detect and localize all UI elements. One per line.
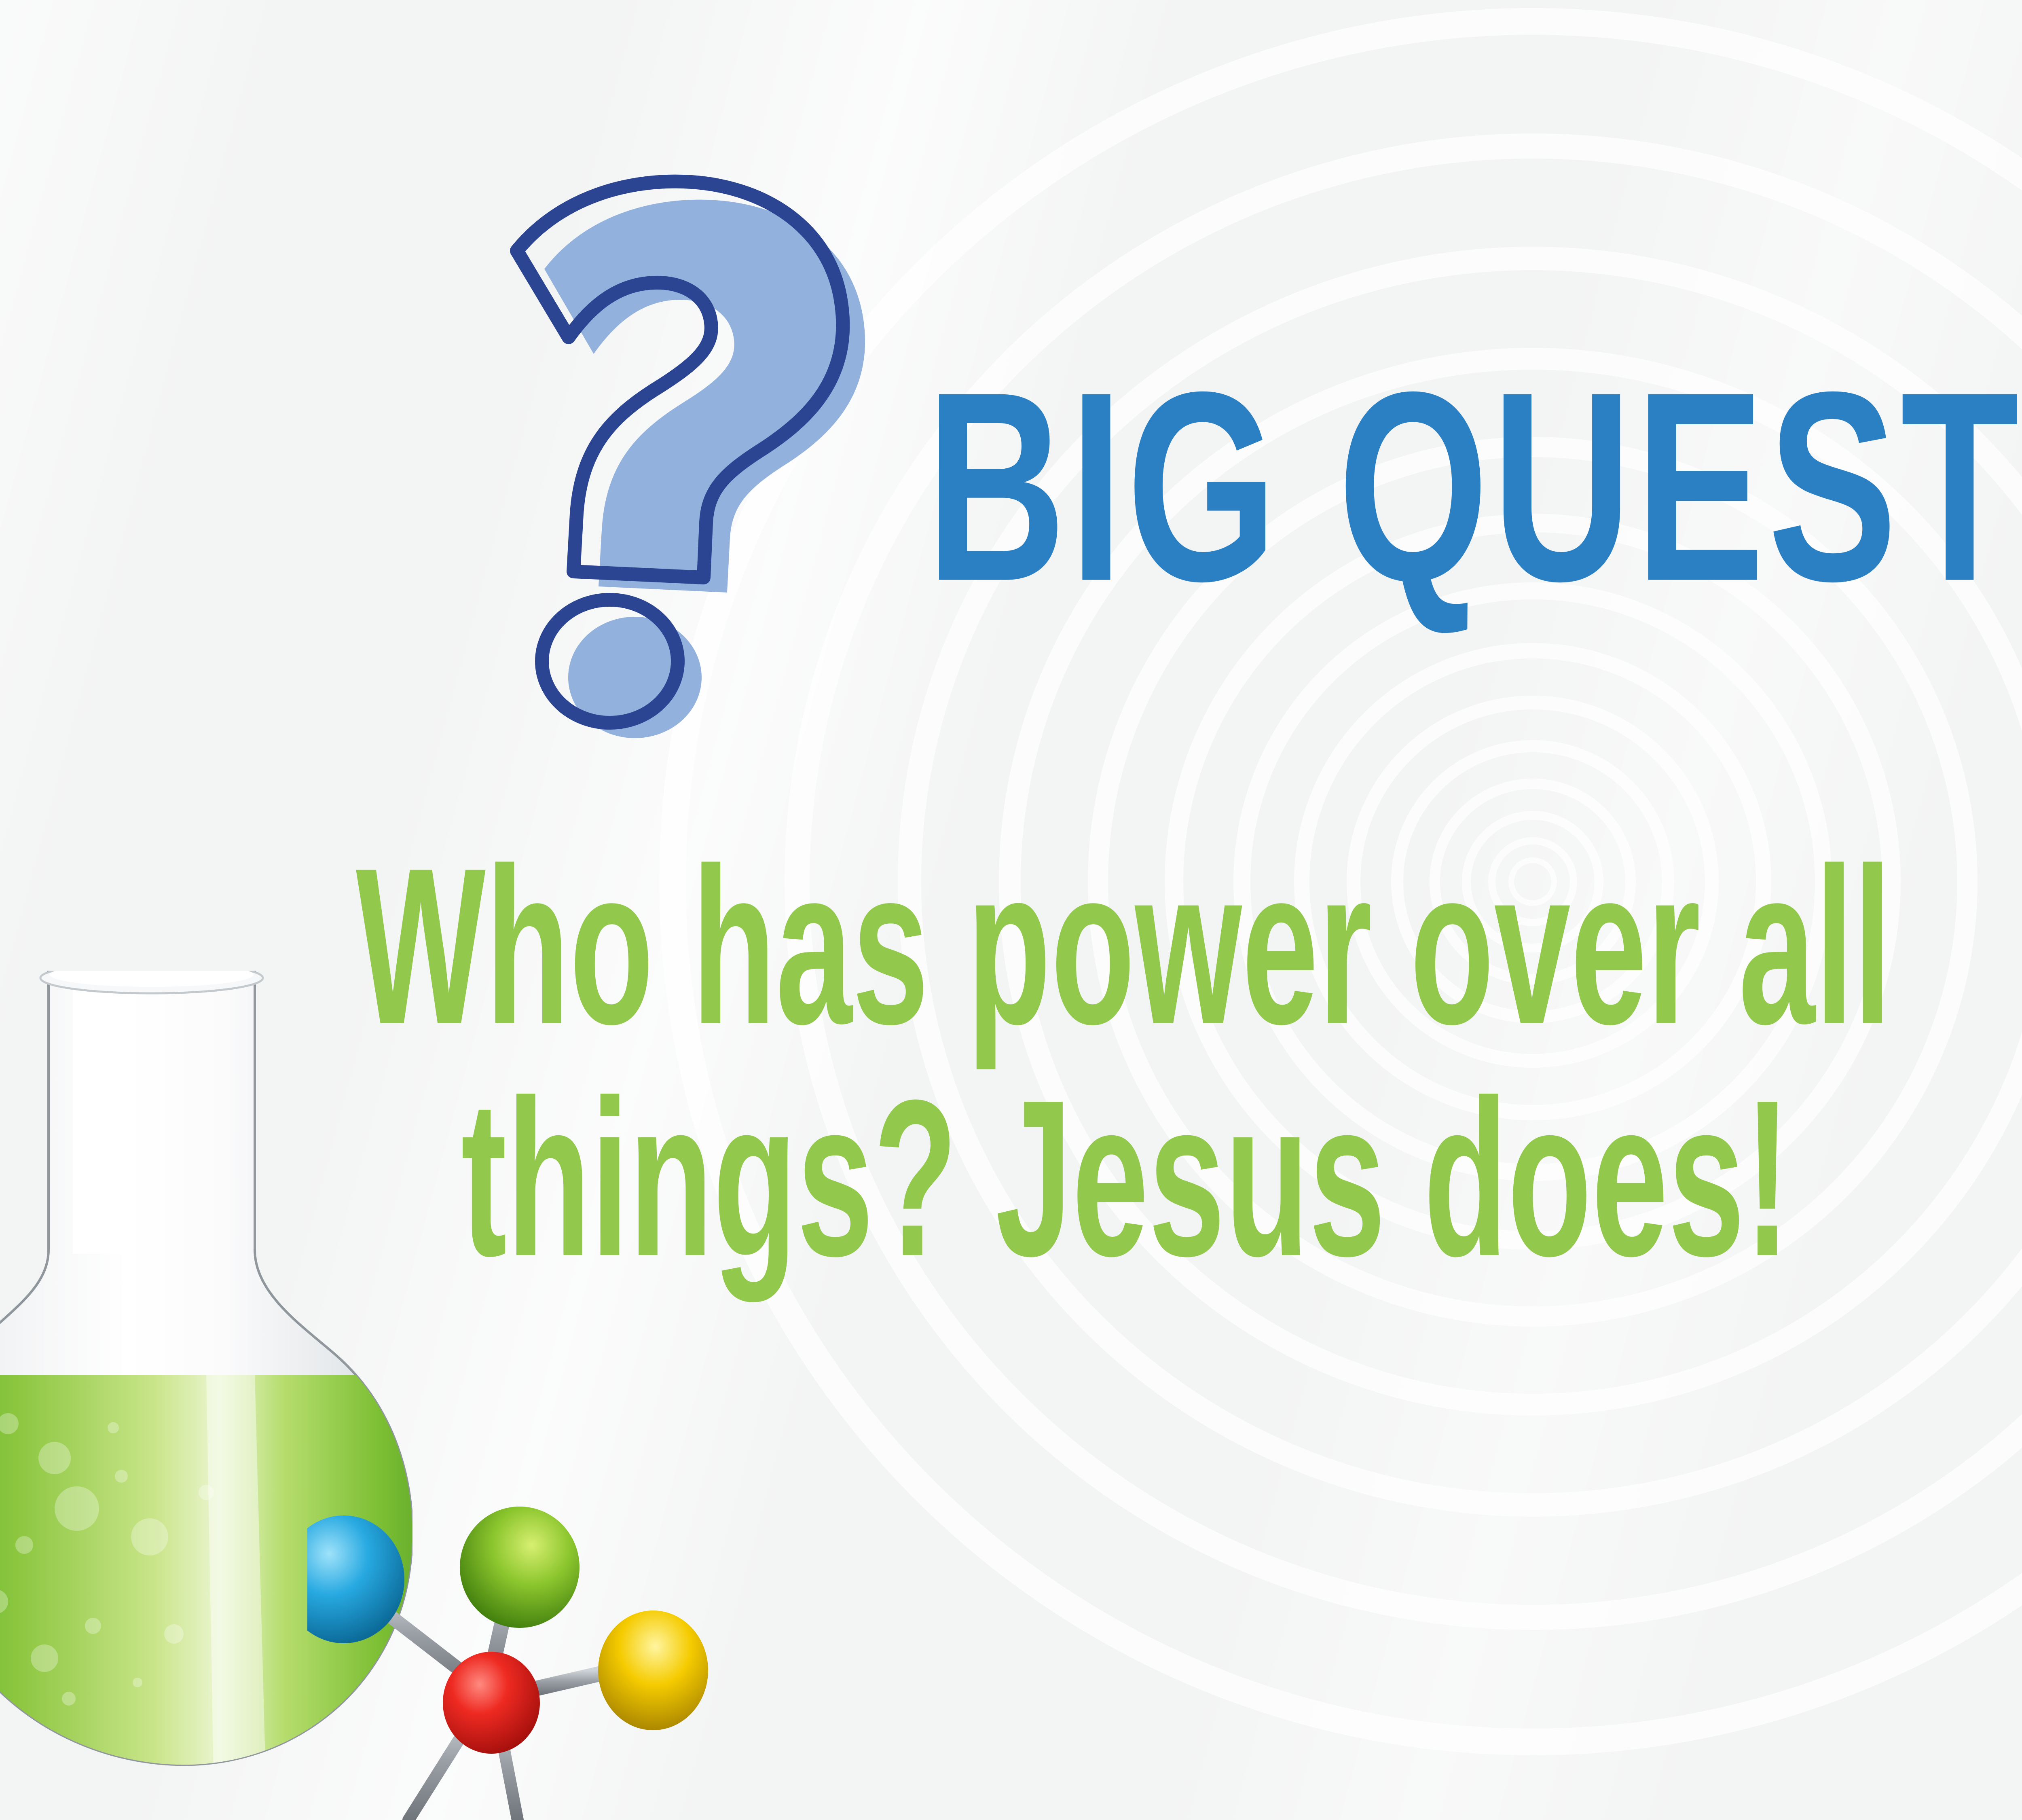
subtitle-line-1: Who has power over all xyxy=(356,831,2022,1063)
subtitle-line-2: things? Jesus does! xyxy=(461,1063,2022,1295)
atom-yellow xyxy=(598,1610,708,1730)
molecule-model xyxy=(307,1496,752,1820)
page-title: BIG QUESTION xyxy=(926,352,2022,622)
atom-green xyxy=(460,1507,580,1628)
slide-canvas: BIG QUESTION Who has power over all thin… xyxy=(0,0,2022,1820)
atom-red-center xyxy=(443,1652,540,1754)
subtitle-question: Who has power over all things? Jesus doe… xyxy=(356,831,2022,1295)
